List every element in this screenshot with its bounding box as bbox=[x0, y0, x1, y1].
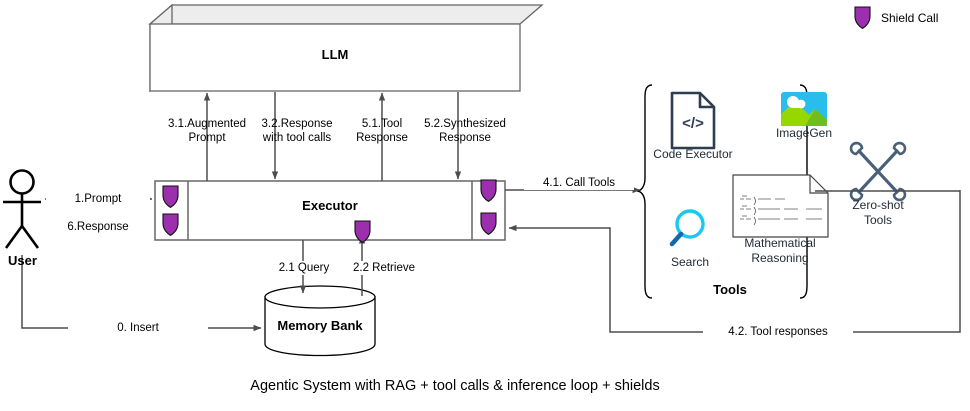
math-reasoning-icon bbox=[733, 175, 828, 237]
shield-icon-legend bbox=[855, 7, 870, 28]
edge-label-5-2-line1: 5.2.Synthesized bbox=[404, 117, 526, 131]
tool-label-math-reasoning-line1: Mathematical bbox=[727, 236, 833, 251]
edge-label-2-2-retrieve: 2.2 Retrieve bbox=[330, 261, 438, 275]
edge-label-6-response: 6.Response bbox=[42, 220, 154, 234]
edge-label-4-1-call-tools: 4.1. Call Tools bbox=[524, 176, 634, 190]
tool-label-zero-shot-line2: Tools bbox=[838, 213, 918, 228]
tool-label-zero-shot-line1: Zero-shot bbox=[838, 198, 918, 213]
edge-0-insert bbox=[22, 255, 261, 328]
image-gen-icon bbox=[781, 92, 827, 126]
tools-group-label: Tools bbox=[700, 283, 760, 297]
diagram-caption: Agentic System with RAG + tool calls & i… bbox=[0, 378, 910, 394]
edge-label-4-2-tool-responses: 4.2. Tool responses bbox=[703, 325, 853, 339]
llm-label: LLM bbox=[150, 48, 520, 62]
legend-label: Shield Call bbox=[881, 11, 970, 25]
user-figure[interactable] bbox=[3, 171, 41, 249]
tool-label-code-executor: Code Executor bbox=[647, 147, 739, 162]
tool-label-imagegen: ImageGen bbox=[768, 126, 840, 141]
code-executor-icon: </> bbox=[672, 93, 714, 148]
diagram-canvas: </> bbox=[0, 0, 970, 411]
tool-label-math-reasoning-line2: Reasoning bbox=[727, 251, 833, 266]
tool-label-search: Search bbox=[657, 255, 723, 270]
svg-text:</>: </> bbox=[682, 115, 704, 132]
user-label: User bbox=[0, 254, 45, 268]
memory-bank-label: Memory Bank bbox=[265, 319, 375, 333]
edge-label-5-2-line2: Response bbox=[404, 131, 526, 145]
edge-label-0-insert: 0. Insert bbox=[68, 321, 208, 335]
executor-label: Executor bbox=[188, 199, 472, 213]
edge-label-1-prompt: 1.Prompt bbox=[46, 192, 150, 206]
search-icon bbox=[672, 211, 703, 244]
